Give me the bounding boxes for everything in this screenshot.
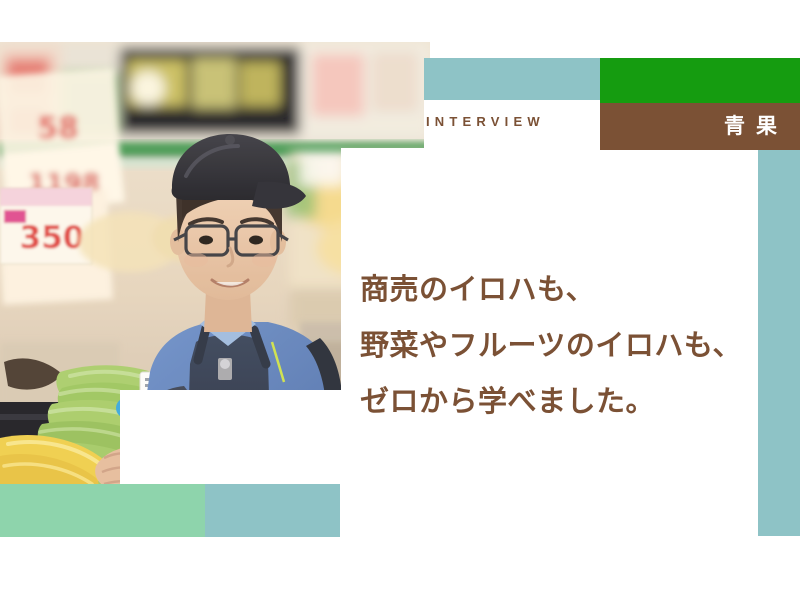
headline-line-1: 商売のイロハも、 <box>360 262 780 318</box>
interview-banner: 58 1198 350 <box>0 0 800 600</box>
interview-eyebrow-label: INTERVIEW <box>426 115 545 128</box>
headline-line-3: ゼロから学べました。 <box>360 374 780 430</box>
teal-accent-block-bottom <box>205 484 340 537</box>
teal-accent-bar-top <box>424 58 600 100</box>
category-badge-label: 青果 <box>724 116 800 137</box>
category-badge: 青果 <box>600 103 800 150</box>
headline-block: 商売のイロハも、 野菜やフルーツのイロハも、 ゼロから学べました。 <box>360 262 780 430</box>
headline-line-2: 野菜やフルーツのイロハも、 <box>360 318 780 374</box>
teal-accent-bar-right <box>758 150 800 536</box>
green-accent-bar <box>600 58 800 103</box>
mint-accent-block-bottom-left <box>0 484 205 537</box>
